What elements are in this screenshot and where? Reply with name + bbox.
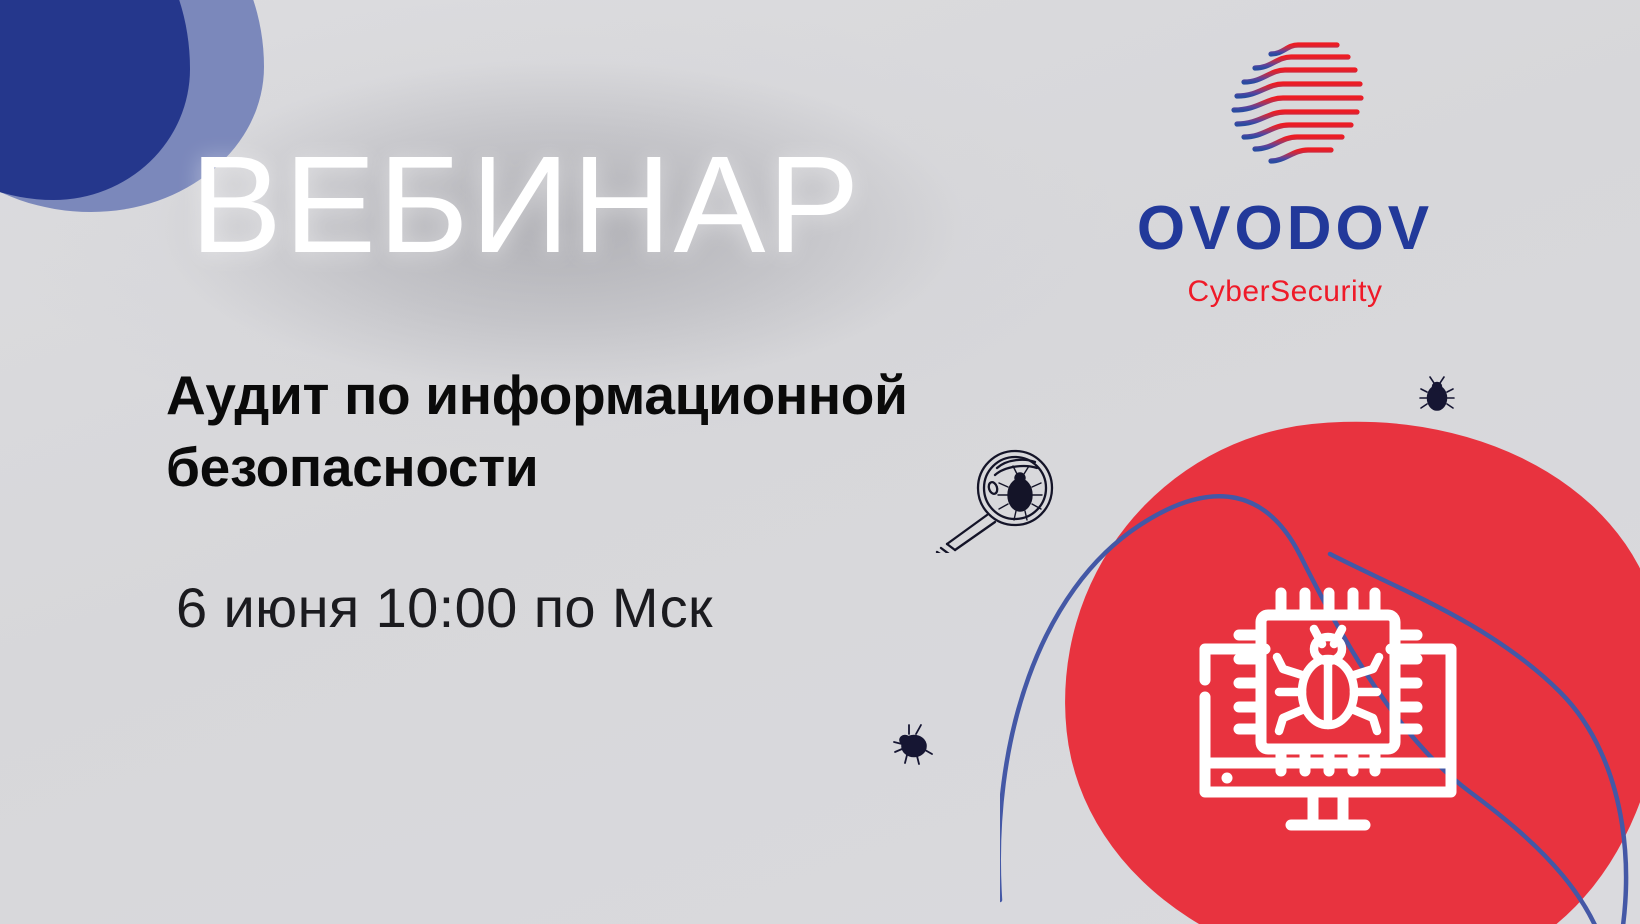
event-datetime: 6 июня 10:00 по Мск (176, 574, 713, 641)
bug-icon-top-right (1418, 376, 1456, 416)
webinar-banner: ВЕБИНАР Аудит по информационной безопасн… (0, 0, 1640, 924)
bug-icon-bottom-left (889, 720, 935, 766)
fingerprint-waves-icon (1185, 30, 1385, 190)
magnifier-bug-icon (925, 443, 1065, 553)
page-kicker: ВЕБИНАР (190, 136, 862, 274)
brand-logo: OVODOV CyberSecurity (1075, 30, 1495, 315)
brand-wordmark: OVODOV (1075, 198, 1495, 260)
brand-tagline: CyberSecurity (1075, 277, 1495, 307)
monitor-chip-bug-icon (1183, 545, 1473, 845)
